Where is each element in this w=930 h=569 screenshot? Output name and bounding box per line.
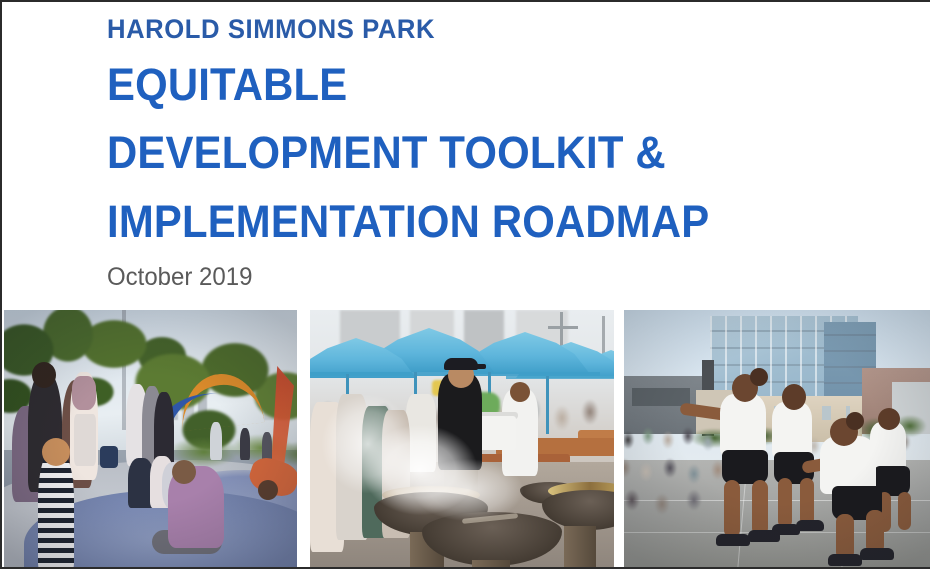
title-slide: HAROLD SIMMONS PARK EQUITABLE DEVELOPMEN… <box>0 0 930 569</box>
photo-community-cookout <box>310 310 614 569</box>
white-clad-person-1-head <box>510 382 530 402</box>
utility-crossarm <box>548 326 578 329</box>
smoke-plume-3 <box>400 450 540 530</box>
page-title-line-3: IMPLEMENTATION ROADMAP <box>107 188 814 256</box>
foreground-man-cap-brim <box>468 364 486 369</box>
cookout-scene <box>310 310 614 569</box>
date-subtitle: October 2019 <box>107 262 837 292</box>
page-title: EQUITABLE DEVELOPMENT TOOLKIT & IMPLEMEN… <box>107 51 814 256</box>
photo-vignette <box>4 310 297 569</box>
grill-2-pedestal <box>472 560 510 569</box>
playground-scene <box>4 310 297 569</box>
project-name-eyebrow: HAROLD SIMMONS PARK <box>107 14 829 45</box>
grill-3-pedestal <box>564 526 596 569</box>
photo-playground-gathering <box>4 310 297 569</box>
title-block: HAROLD SIMMONS PARK EQUITABLE DEVELOPMEN… <box>107 14 867 292</box>
photo-outdoor-dance-performance <box>624 310 930 569</box>
page-title-line-2: DEVELOPMENT TOOLKIT & <box>107 119 814 187</box>
dance-performance-scene <box>624 310 930 569</box>
photo-strip <box>2 310 930 569</box>
page-title-line-1: EQUITABLE <box>107 51 814 119</box>
photo-vignette <box>624 310 930 569</box>
